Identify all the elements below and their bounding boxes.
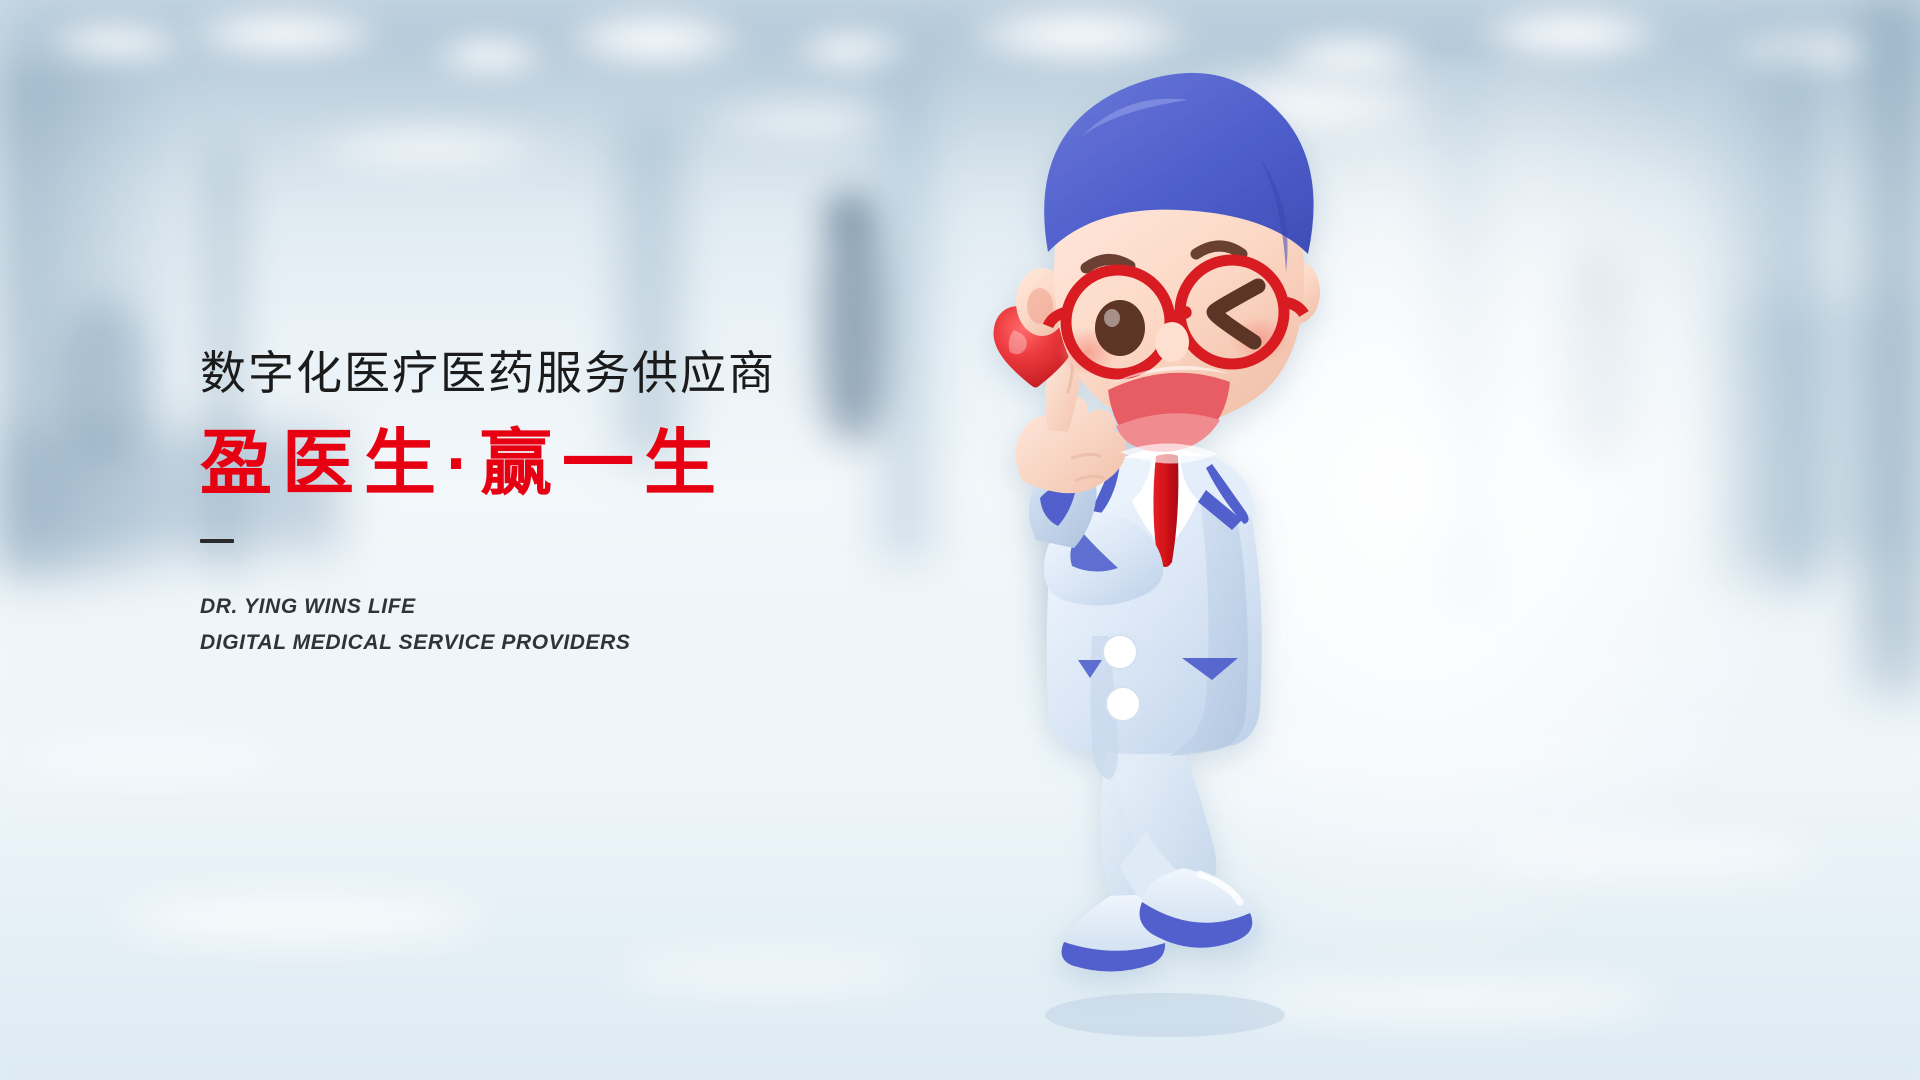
mascot-doctor-character: [960, 40, 1400, 1050]
english-subtitle-line-2: DIGITAL MEDICAL SERVICE PROVIDERS: [200, 625, 960, 661]
english-subtitle-line-1: DR. YING WINS LIFE: [200, 589, 960, 625]
english-subtitle-block: DR. YING WINS LIFE DIGITAL MEDICAL SERVI…: [200, 589, 960, 661]
page-title: 数字化医疗医药服务供应商: [200, 348, 960, 400]
slogan: 盈医生·赢一生: [200, 426, 960, 504]
mascot-body-group: [994, 73, 1320, 972]
eye-open: [1095, 300, 1145, 356]
legs-and-shoes: [1062, 720, 1261, 972]
hero-copy-block: 数字化医疗医药服务供应商 盈医生·赢一生 DR. YING WINS LIFE …: [200, 348, 960, 661]
divider-rule: [200, 539, 234, 543]
hero-banner: 数字化医疗医药服务供应商 盈医生·赢一生 DR. YING WINS LIFE …: [0, 0, 1920, 1080]
